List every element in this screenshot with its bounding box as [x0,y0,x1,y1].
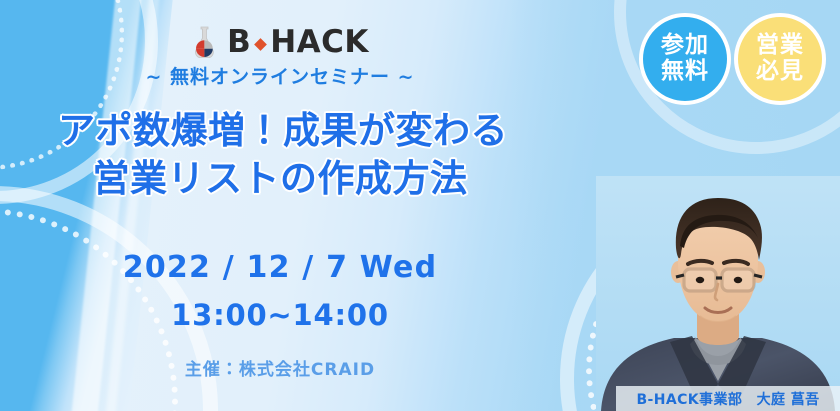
title-line-1-text: アポ数爆増！成果が変わる [58,109,508,152]
badge-free-line-1: 参加 [661,33,709,59]
seminar-date: 2022 / 12 / 7 Wed [0,250,560,285]
badge-must-see: 営業 必見 [734,13,826,105]
badge-free-line-2: 無料 [661,59,709,85]
speaker-name-bar: B-HACK事業部 大庭 菖吾 [616,386,840,411]
badge-must-see-line-1: 営業 [756,33,804,59]
flask-icon [191,26,218,58]
logo-word-hack: HACK [270,27,369,58]
brand-logo: B HACK [0,26,560,58]
speaker-name-label: B-HACK事業部 大庭 菖吾 [636,389,819,409]
seminar-time: 13:00~14:00 [0,298,560,332]
seminar-title: アポ数爆増！成果が変わる 営業リストの作成方法 [0,108,560,201]
badge-must-see-line-2: 必見 [756,59,804,85]
speaker-photo [596,176,840,411]
page-title-line-1: アポ数爆増！成果が変わる [58,108,508,153]
seminar-host: 主催：株式会社CRAID [0,355,560,380]
logo-letter-b: B [227,27,251,58]
logo-wordmark: B HACK [227,27,369,58]
seminar-subtitle: ~ 無料オンラインセミナー ~ [0,62,560,89]
page-title-line-2: 営業リストの作成方法 [93,156,468,201]
diamond-dot-icon [254,38,267,51]
badge-free: 参加 無料 [639,13,731,105]
webinar-banner: B HACK ~ 無料オンラインセミナー ~ アポ数爆増！成果が変わる 営業リス… [0,0,840,411]
speaker-portrait-icon [596,176,840,411]
